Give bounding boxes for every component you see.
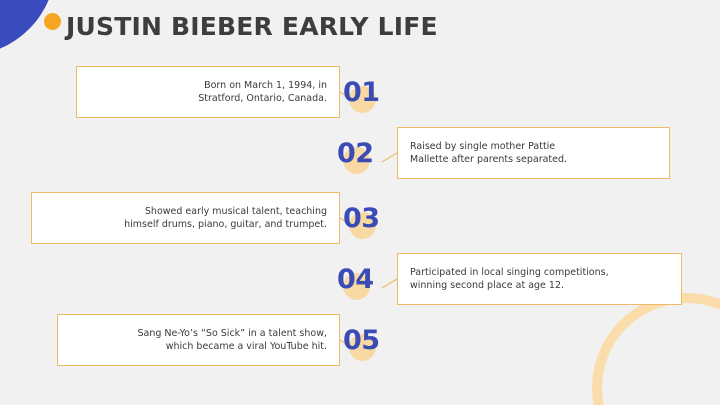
- timeline-text-box-5: Sang Ne-Yo’s “So Sick” in a talent show,…: [57, 314, 340, 366]
- timeline-number-3: 03: [343, 198, 401, 240]
- timeline-number-wrap-5: 05: [343, 320, 401, 362]
- timeline-text-1-line2: Stratford, Ontario, Canada.: [198, 93, 327, 104]
- timeline-text-5-line1: Sang Ne-Yo’s “So Sick” in a talent show,: [137, 328, 327, 339]
- timeline-text-5-line2: which became a viral YouTube hit.: [166, 341, 327, 352]
- timeline-text-5: Sang Ne-Yo’s “So Sick” in a talent show,…: [58, 327, 339, 354]
- timeline-text-2: Raised by single mother Pattie Mallette …: [398, 140, 669, 167]
- timeline-number-wrap-3: 03: [343, 198, 401, 240]
- timeline-text-4-line1: Participated in local singing competitio…: [410, 267, 609, 278]
- timeline-row-3: Showed early musical talent, teaching hi…: [0, 192, 720, 246]
- timeline-number-1: 01: [343, 72, 401, 114]
- page-title: JUSTIN BIEBER EARLY LIFE: [66, 12, 438, 41]
- orange-dot-icon: [44, 13, 61, 30]
- timeline-row-2: 02 Raised by single mother Pattie Mallet…: [0, 127, 720, 181]
- timeline-text-1: Born on March 1, 1994, in Stratford, Ont…: [77, 79, 339, 106]
- slide-canvas: JUSTIN BIEBER EARLY LIFE Born on March 1…: [0, 0, 720, 405]
- timeline-text-1-line1: Born on March 1, 1994, in: [204, 80, 327, 91]
- timeline-text-box-4: Participated in local singing competitio…: [397, 253, 682, 305]
- timeline-text-2-line2: Mallette after parents separated.: [410, 154, 567, 165]
- timeline-text-2-line1: Raised by single mother Pattie: [410, 141, 555, 152]
- timeline-text-box-2: Raised by single mother Pattie Mallette …: [397, 127, 670, 179]
- timeline-number-5: 05: [343, 320, 401, 362]
- timeline-text-3-line1: Showed early musical talent, teaching: [145, 206, 327, 217]
- timeline-text-4: Participated in local singing competitio…: [398, 266, 681, 293]
- timeline-text-3: Showed early musical talent, teaching hi…: [32, 205, 339, 232]
- timeline-connector-4: [382, 279, 398, 289]
- timeline-row-1: Born on March 1, 1994, in Stratford, Ont…: [0, 66, 720, 120]
- timeline-text-4-line2: winning second place at age 12.: [410, 280, 564, 291]
- timeline-text-3-line2: himself drums, piano, guitar, and trumpe…: [124, 219, 327, 230]
- timeline-number-wrap-1: 01: [343, 72, 401, 114]
- timeline-row-5: Sang Ne-Yo’s “So Sick” in a talent show,…: [0, 314, 720, 368]
- timeline-connector-2: [382, 153, 398, 163]
- timeline-text-box-1: Born on March 1, 1994, in Stratford, Ont…: [76, 66, 340, 118]
- timeline-row-4: 04 Participated in local singing competi…: [0, 253, 720, 307]
- timeline-text-box-3: Showed early musical talent, teaching hi…: [31, 192, 340, 244]
